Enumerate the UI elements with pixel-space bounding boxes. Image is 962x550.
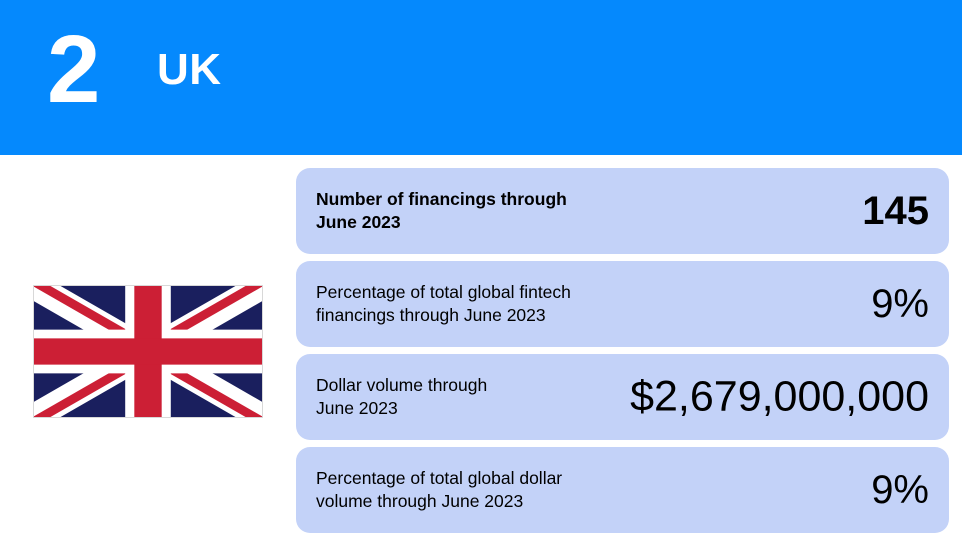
stat-value: 145 (862, 191, 929, 231)
stat-label: Percentage of total global dollar volume… (316, 467, 562, 513)
stat-label: Percentage of total global fintech finan… (316, 281, 571, 327)
union-jack-svg (34, 286, 262, 417)
rank-number: 2 (47, 22, 99, 118)
stat-row: Dollar volume through June 2023 $2,679,0… (296, 354, 949, 440)
stat-row: Percentage of total global dollar volume… (296, 447, 949, 533)
header-band: 2 UK (0, 0, 962, 155)
country-name: UK (157, 48, 222, 92)
stat-label: Dollar volume through June 2023 (316, 374, 487, 420)
stat-value: 9% (871, 470, 929, 510)
stat-row: Percentage of total global fintech finan… (296, 261, 949, 347)
stats-panel: Number of financings through June 2023 1… (296, 168, 949, 540)
union-jack-flag (33, 285, 263, 418)
stat-value: $2,679,000,000 (630, 376, 929, 419)
stat-value: 9% (871, 284, 929, 324)
stat-label: Number of financings through June 2023 (316, 188, 567, 234)
stat-row: Number of financings through June 2023 1… (296, 168, 949, 254)
